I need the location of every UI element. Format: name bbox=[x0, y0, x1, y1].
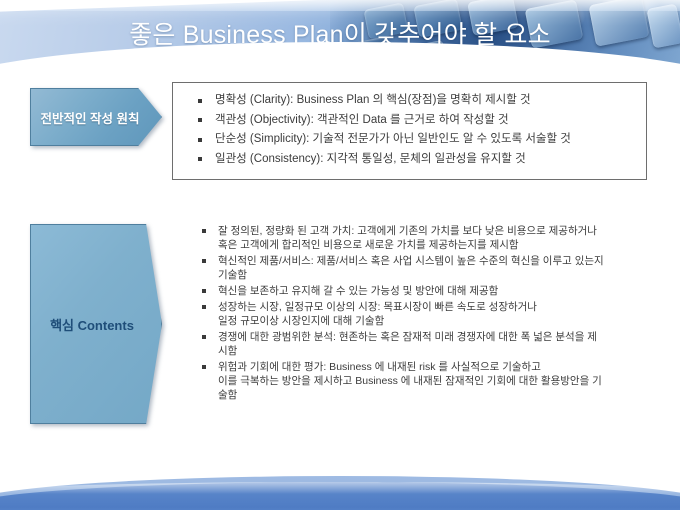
list-item: 단순성 (Simplicity): 기술적 전문가가 아닌 일반인도 알 수 있… bbox=[191, 130, 640, 150]
section-label-text: 전반적인 작성 원칙 bbox=[30, 108, 162, 127]
list-item-text: 혁신을 보존하고 유지해 갈 수 있는 가능성 및 방안에 대해 제공함 bbox=[218, 285, 498, 297]
list-item-text: 명확성 (Clarity): Business Plan 의 핵심(장점)을 명… bbox=[215, 94, 531, 106]
section-label-text: 핵심 Contents bbox=[30, 315, 162, 334]
list-item: 혁신적인 제품/서비스: 제품/서비스 혹은 사업 시스템이 높은 수준의 혁신… bbox=[198, 254, 660, 282]
list-item: 일관성 (Consistency): 지각적 통일성, 문체의 일관성을 유지할… bbox=[191, 150, 640, 170]
list-item: 잘 정의된, 정량화 된 고객 가치: 고객에게 기존의 가치를 보다 낮은 비… bbox=[198, 224, 660, 252]
slide-footer bbox=[0, 450, 680, 510]
list-item: 혁신을 보존하고 유지해 갈 수 있는 가능성 및 방안에 대해 제공함 bbox=[198, 284, 660, 298]
slide-header: 좋은 Business Plan이 갖추어야 할 요소 bbox=[0, 0, 680, 70]
footer-highlight-line bbox=[0, 482, 680, 494]
list-item-continuation: 이를 극복하는 방안을 제시하고 Business 에 내재된 잠재적인 기회에… bbox=[218, 374, 660, 388]
list-item-continuation: 기술함 bbox=[218, 268, 660, 282]
list-item-text: 성장하는 시장, 일정규모 이상의 시장: 목표시장이 빠른 속도로 성장하거나 bbox=[218, 301, 537, 313]
list-item-text: 일관성 (Consistency): 지각적 통일성, 문체의 일관성을 유지할… bbox=[215, 153, 526, 165]
list-item-continuation: 일정 규모이상 시장인지에 대해 기술함 bbox=[218, 314, 660, 328]
list-item-text: 단순성 (Simplicity): 기술적 전문가가 아닌 일반인도 알 수 있… bbox=[215, 133, 571, 145]
list-item-text: 혁신적인 제품/서비스: 제품/서비스 혹은 사업 시스템이 높은 수준의 혁신… bbox=[218, 255, 604, 267]
list-item: 명확성 (Clarity): Business Plan 의 핵심(장점)을 명… bbox=[191, 91, 640, 111]
list-item-text: 위험과 기회에 대한 평가: Business 에 내재된 risk 를 사실적… bbox=[218, 361, 541, 373]
list-item-continuation: 시함 bbox=[218, 344, 660, 358]
slide-canvas: 좋은 Business Plan이 갖추어야 할 요소 전반적인 작성 원칙 명… bbox=[0, 0, 680, 510]
core-contents-bullet-list: 잘 정의된, 정량화 된 고객 가치: 고객에게 기존의 가치를 보다 낮은 비… bbox=[198, 224, 660, 404]
list-item-text: 경쟁에 대한 광범위한 분석: 현존하는 혹은 잠재적 미래 경쟁자에 대한 폭… bbox=[218, 331, 597, 343]
principles-bullet-box: 명확성 (Clarity): Business Plan 의 핵심(장점)을 명… bbox=[172, 82, 647, 180]
list-item: 위험과 기회에 대한 평가: Business 에 내재된 risk 를 사실적… bbox=[198, 360, 660, 402]
list-item: 객관성 (Objectivity): 객관적인 Data 를 근거로 하여 작성… bbox=[191, 111, 640, 131]
list-item-text: 객관성 (Objectivity): 객관적인 Data 를 근거로 하여 작성… bbox=[215, 114, 509, 126]
section-label-principles[interactable]: 전반적인 작성 원칙 bbox=[30, 88, 162, 146]
section-label-core-contents[interactable]: 핵심 Contents bbox=[30, 224, 162, 424]
list-item-text: 잘 정의된, 정량화 된 고객 가치: 고객에게 기존의 가치를 보다 낮은 비… bbox=[218, 225, 597, 237]
list-item: 경쟁에 대한 광범위한 분석: 현존하는 혹은 잠재적 미래 경쟁자에 대한 폭… bbox=[198, 330, 660, 358]
list-item: 성장하는 시장, 일정규모 이상의 시장: 목표시장이 빠른 속도로 성장하거나… bbox=[198, 300, 660, 328]
list-item-continuation: 혹은 고객에게 합리적인 비용으로 새로운 가치를 제공하는지를 제시함 bbox=[218, 238, 660, 252]
list-item-continuation-2: 술함 bbox=[218, 388, 660, 402]
principles-bullet-list: 명확성 (Clarity): Business Plan 의 핵심(장점)을 명… bbox=[191, 91, 640, 169]
